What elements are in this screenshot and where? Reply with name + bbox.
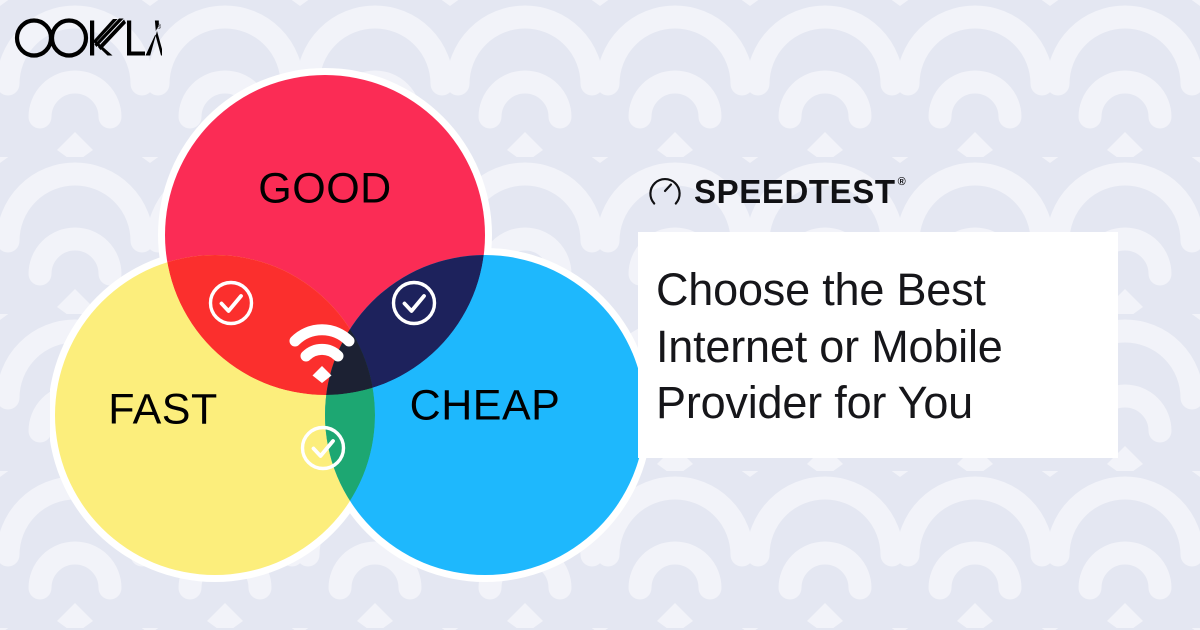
speedtest-logo: SPEEDTEST ® (648, 168, 1118, 214)
poster-canvas: ® (0, 0, 1200, 630)
ookla-k-glyph (90, 19, 126, 56)
headline-line-1: Choose the Best (656, 262, 1088, 319)
venn-label-cheap: CHEAP (410, 381, 561, 429)
venn-label-fast: FAST (108, 385, 218, 433)
ookla-logo: ® (14, 17, 162, 59)
venn-label-good: GOOD (258, 164, 391, 212)
speedtest-wordmark-group: SPEEDTEST ® (694, 175, 906, 208)
speedometer-icon (648, 174, 682, 208)
venn-diagram: GOOD FAST CHEAP (50, 55, 650, 585)
ookla-registered-mark: ® (156, 23, 162, 31)
headline-line-3: Provider for You (656, 375, 1088, 432)
speedtest-registered-mark: ® (898, 177, 907, 188)
speedtest-wordmark-text: SPEEDTEST (694, 175, 896, 208)
right-content-column: SPEEDTEST ® Choose the Best Internet or … (638, 168, 1118, 458)
headline-card: Choose the Best Internet or Mobile Provi… (638, 232, 1118, 458)
headline-text: Choose the Best Internet or Mobile Provi… (656, 262, 1088, 432)
headline-line-2: Internet or Mobile (656, 319, 1088, 376)
